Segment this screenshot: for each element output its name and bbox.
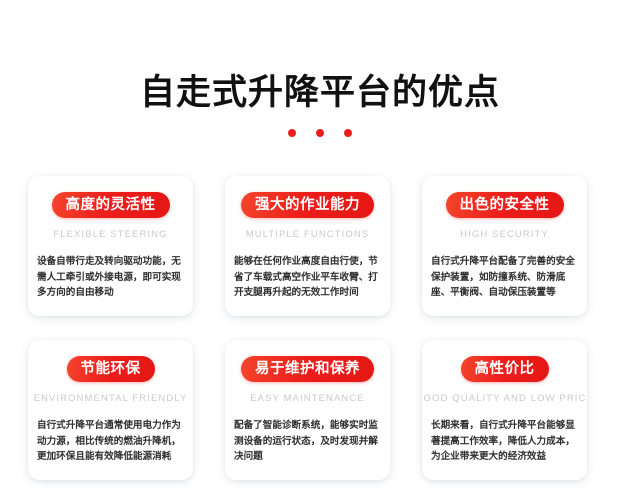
- card-en-subtitle: FLEXIBLE STEERING: [53, 229, 167, 241]
- dot-icon: [288, 129, 296, 137]
- card-body-text: 长期来看，自行式升降平台能够显著提高工作效率，降低人力成本，为企业带来更大的经济…: [431, 418, 578, 465]
- advantage-card: 高性价比 GOOD QUALITY AND LOW PRICE 长期来看，自行式…: [422, 340, 587, 480]
- card-badge: 高度的灵活性: [52, 192, 170, 218]
- card-badge: 高性价比: [461, 356, 549, 382]
- card-badge: 强大的作业能力: [241, 192, 374, 218]
- card-badge: 出色的安全性: [446, 192, 564, 218]
- card-en-subtitle: GOOD QUALITY AND LOW PRICE: [422, 393, 587, 405]
- card-body-text: 设备自带行走及转向驱动功能，无需人工牵引或外接电源，即可实现多方向的自由移动: [37, 254, 184, 301]
- card-en-subtitle: EASY MAINTENANCE: [250, 393, 365, 405]
- advantage-card: 高度的灵活性 FLEXIBLE STEERING 设备自带行走及转向驱动功能，无…: [28, 176, 193, 316]
- dot-icon: [316, 129, 324, 137]
- card-badge: 节能环保: [67, 356, 155, 382]
- card-body-text: 自行式升降平台配备了完善的安全保护装置，如防撞系统、防滑底座、平衡阀、自动保压装…: [431, 254, 578, 301]
- infographic-page: 自走式升降平台的优点 高度的灵活性 FLEXIBLE STEERING 设备自带…: [0, 0, 640, 501]
- advantage-card-grid: 高度的灵活性 FLEXIBLE STEERING 设备自带行走及转向驱动功能，无…: [28, 176, 612, 480]
- dot-separator: [288, 129, 352, 137]
- card-en-subtitle: HIGH SECURITY: [460, 229, 549, 241]
- card-en-subtitle: MULTIPLE FUNCTIONS: [246, 229, 370, 241]
- card-body-text: 自行式升降平台通常使用电力作为动力源，相比传统的燃油升降机，更加环保且能有效降低…: [37, 418, 184, 465]
- page-header: 自走式升降平台的优点: [0, 0, 640, 170]
- advantage-card: 出色的安全性 HIGH SECURITY 自行式升降平台配备了完善的安全保护装置…: [422, 176, 587, 316]
- card-badge: 易于维护和保养: [241, 356, 374, 382]
- advantage-card: 强大的作业能力 MULTIPLE FUNCTIONS 能够在任何作业高度自由行使…: [225, 176, 390, 316]
- card-en-subtitle: ENVIRONMENTAL FRIENDLY: [34, 393, 188, 405]
- page-title: 自走式升降平台的优点: [140, 72, 500, 114]
- card-body-text: 配备了智能诊断系统，能够实时监测设备的运行状态，及时发现并解决问题: [234, 418, 381, 465]
- advantage-card: 节能环保 ENVIRONMENTAL FRIENDLY 自行式升降平台通常使用电…: [28, 340, 193, 480]
- advantage-card: 易于维护和保养 EASY MAINTENANCE 配备了智能诊断系统，能够实时监…: [225, 340, 390, 480]
- card-body-text: 能够在任何作业高度自由行使，节省了车载式高空作业平车收臂、打开支腿再升起的无效工…: [234, 254, 381, 301]
- dot-icon: [344, 129, 352, 137]
